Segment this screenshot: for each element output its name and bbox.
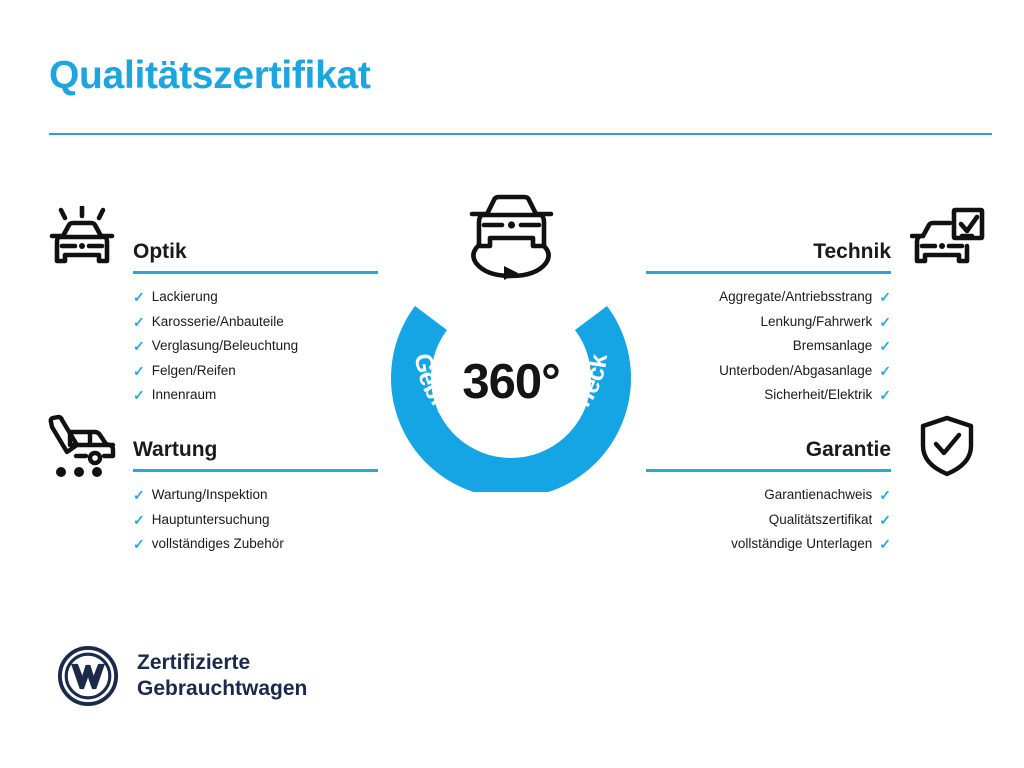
section-garantie: Garantie ✓Garantienachweis ✓Qualitätszer… xyxy=(646,436,891,557)
list-item-label: Wartung/Inspektion xyxy=(152,483,268,508)
car-wrench-oil-icon xyxy=(46,414,118,478)
section-divider xyxy=(133,469,378,472)
footer-line-1: Zertifizierte xyxy=(137,650,307,676)
list-item: ✓Aggregate/Antriebsstrang xyxy=(646,285,891,310)
section-items: ✓Aggregate/Antriebsstrang ✓Lenkung/Fahrw… xyxy=(646,285,891,408)
list-item: ✓Bremsanlage xyxy=(646,334,891,359)
list-item: ✓Felgen/Reifen xyxy=(133,359,378,384)
check-icon: ✓ xyxy=(133,537,145,551)
list-item: ✓Qualitätszertifikat xyxy=(646,508,891,533)
check-icon: ✓ xyxy=(133,339,145,353)
list-item-label: Sicherheit/Elektrik xyxy=(764,383,872,408)
check-icon: ✓ xyxy=(133,388,145,402)
section-wartung: Wartung ✓Wartung/Inspektion ✓Hauptunters… xyxy=(133,436,378,557)
badge-360-check: Gebrauchtwagen-Check 360° xyxy=(379,258,643,492)
car-rotate-icon xyxy=(454,188,569,288)
check-icon: ✓ xyxy=(879,388,891,402)
check-icon: ✓ xyxy=(133,290,145,304)
list-item: ✓Hauptuntersuchung xyxy=(133,508,378,533)
check-icon: ✓ xyxy=(879,315,891,329)
list-item-label: Hauptuntersuchung xyxy=(152,508,270,533)
certificate-page: Qualitätszertifikat Optik ✓Lackierung ✓K… xyxy=(0,0,1024,768)
section-divider xyxy=(646,469,891,472)
check-icon: ✓ xyxy=(879,537,891,551)
list-item: ✓Innenraum xyxy=(133,383,378,408)
section-technik: Technik ✓Aggregate/Antriebsstrang ✓Lenku… xyxy=(646,238,891,408)
list-item: ✓Lenkung/Fahrwerk xyxy=(646,310,891,335)
list-item-label: Verglasung/Beleuchtung xyxy=(152,334,298,359)
badge-degrees: 360° xyxy=(379,258,643,492)
section-divider xyxy=(646,271,891,274)
list-item: ✓Wartung/Inspektion xyxy=(133,483,378,508)
list-item-label: Unterboden/Abgasanlage xyxy=(719,359,872,384)
car-shine-icon xyxy=(46,206,118,272)
check-icon: ✓ xyxy=(133,488,145,502)
check-icon: ✓ xyxy=(879,364,891,378)
list-item: ✓Lackierung xyxy=(133,285,378,310)
title-divider xyxy=(49,133,992,135)
section-title: Garantie xyxy=(646,436,891,464)
list-item-label: Aggregate/Antriebsstrang xyxy=(719,285,872,310)
check-icon: ✓ xyxy=(879,513,891,527)
list-item: ✓vollständige Unterlagen xyxy=(646,532,891,557)
section-title: Wartung xyxy=(133,436,378,464)
list-item-label: vollständige Unterlagen xyxy=(731,532,872,557)
section-optik: Optik ✓Lackierung ✓Karosserie/Anbauteile… xyxy=(133,238,378,408)
section-items: ✓Wartung/Inspektion ✓Hauptuntersuchung ✓… xyxy=(133,483,378,557)
list-item-label: Lackierung xyxy=(152,285,218,310)
list-item-label: Karosserie/Anbauteile xyxy=(152,310,284,335)
section-divider xyxy=(133,271,378,274)
list-item-label: Garantienachweis xyxy=(764,483,872,508)
section-header-technik: Technik xyxy=(646,238,891,274)
list-item: ✓Karosserie/Anbauteile xyxy=(133,310,378,335)
list-item: ✓Unterboden/Abgasanlage xyxy=(646,359,891,384)
list-item-label: Qualitätszertifikat xyxy=(769,508,873,533)
list-item: ✓Garantienachweis xyxy=(646,483,891,508)
section-header-garantie: Garantie xyxy=(646,436,891,472)
vw-logo xyxy=(57,645,119,707)
check-icon: ✓ xyxy=(879,339,891,353)
list-item: ✓Verglasung/Beleuchtung xyxy=(133,334,378,359)
shield-check-icon xyxy=(917,414,977,478)
section-header-optik: Optik xyxy=(133,238,378,274)
check-icon: ✓ xyxy=(879,488,891,502)
section-title: Technik xyxy=(646,238,891,266)
section-items: ✓Lackierung ✓Karosserie/Anbauteile ✓Verg… xyxy=(133,285,378,408)
section-items: ✓Garantienachweis ✓Qualitätszertifikat ✓… xyxy=(646,483,891,557)
check-icon: ✓ xyxy=(879,290,891,304)
page-title: Qualitätszertifikat xyxy=(49,54,371,98)
car-checkbox-icon xyxy=(910,206,986,272)
list-item-label: vollständiges Zubehör xyxy=(152,532,284,557)
footer-brand: Zertifizierte Gebrauchtwagen xyxy=(57,645,307,707)
list-item: ✓Sicherheit/Elektrik xyxy=(646,383,891,408)
list-item-label: Felgen/Reifen xyxy=(152,359,236,384)
list-item: ✓vollständiges Zubehör xyxy=(133,532,378,557)
section-header-wartung: Wartung xyxy=(133,436,378,472)
list-item-label: Bremsanlage xyxy=(793,334,873,359)
footer-text: Zertifizierte Gebrauchtwagen xyxy=(137,650,307,702)
footer-line-2: Gebrauchtwagen xyxy=(137,676,307,702)
check-icon: ✓ xyxy=(133,364,145,378)
check-icon: ✓ xyxy=(133,315,145,329)
section-title: Optik xyxy=(133,238,378,266)
list-item-label: Innenraum xyxy=(152,383,217,408)
list-item-label: Lenkung/Fahrwerk xyxy=(760,310,872,335)
check-icon: ✓ xyxy=(133,513,145,527)
